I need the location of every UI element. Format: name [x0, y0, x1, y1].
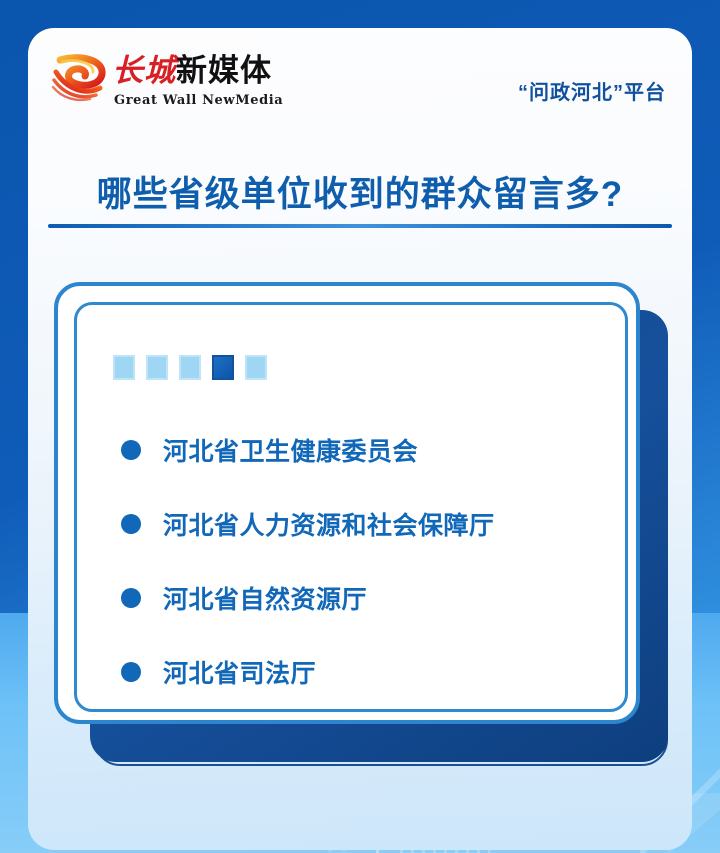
bullet-dot-icon [121, 588, 141, 608]
bullet-dot-icon [121, 662, 141, 682]
title-divider [48, 224, 672, 228]
list-item-label: 河北省自然资源厅 [163, 580, 367, 616]
bullet-dot-icon [121, 440, 141, 460]
list-item-label: 河北省人力资源和社会保障厅 [163, 506, 495, 542]
panel-outer-frame: 河北省卫生健康委员会河北省人力资源和社会保障厅河北省自然资源厅河北省司法厅 [54, 282, 640, 724]
square-indicator-3 [179, 355, 201, 380]
list-item: 河北省自然资源厅 [121, 561, 621, 635]
brand-name-cn-red: 长城 [112, 53, 176, 89]
brand-name-cn: 长城新媒体 [112, 52, 272, 90]
poster-background: 长城新媒体 Great Wall NewMedia “问政河北”平台 哪些省级单… [0, 0, 720, 853]
square-indicator-1 [113, 355, 135, 380]
square-indicator-row [113, 355, 267, 380]
list-item: 河北省人力资源和社会保障厅 [121, 487, 621, 561]
square-indicator-4 [212, 355, 234, 380]
unit-list: 河北省卫生健康委员会河北省人力资源和社会保障厅河北省自然资源厅河北省司法厅 [121, 413, 621, 709]
list-panel-stack: 河北省卫生健康委员会河北省人力资源和社会保障厅河北省自然资源厅河北省司法厅 [54, 282, 668, 762]
panel-inner-frame: 河北省卫生健康委员会河北省人力资源和社会保障厅河北省自然资源厅河北省司法厅 [74, 302, 628, 712]
square-indicator-5 [245, 355, 267, 380]
list-item: 河北省司法厅 [121, 635, 621, 709]
swirl-ribbon-logo-icon [50, 54, 110, 102]
bullet-dot-icon [121, 514, 141, 534]
brand-name-cn-black: 新媒体 [176, 53, 272, 88]
platform-tag: “问政河北”平台 [518, 76, 666, 105]
main-card: 长城新媒体 Great Wall NewMedia “问政河北”平台 哪些省级单… [28, 28, 692, 850]
card-header: 长城新媒体 Great Wall NewMedia “问政河北”平台 [28, 28, 692, 136]
page-title: 哪些省级单位收到的群众留言多? [28, 166, 692, 217]
brand-logo[interactable]: 长城新媒体 Great Wall NewMedia [50, 50, 264, 116]
list-item-label: 河北省司法厅 [163, 654, 316, 690]
square-indicator-2 [146, 355, 168, 380]
brand-name-en: Great Wall NewMedia [114, 93, 283, 108]
list-item: 河北省卫生健康委员会 [121, 413, 621, 487]
list-item-label: 河北省卫生健康委员会 [163, 432, 418, 468]
